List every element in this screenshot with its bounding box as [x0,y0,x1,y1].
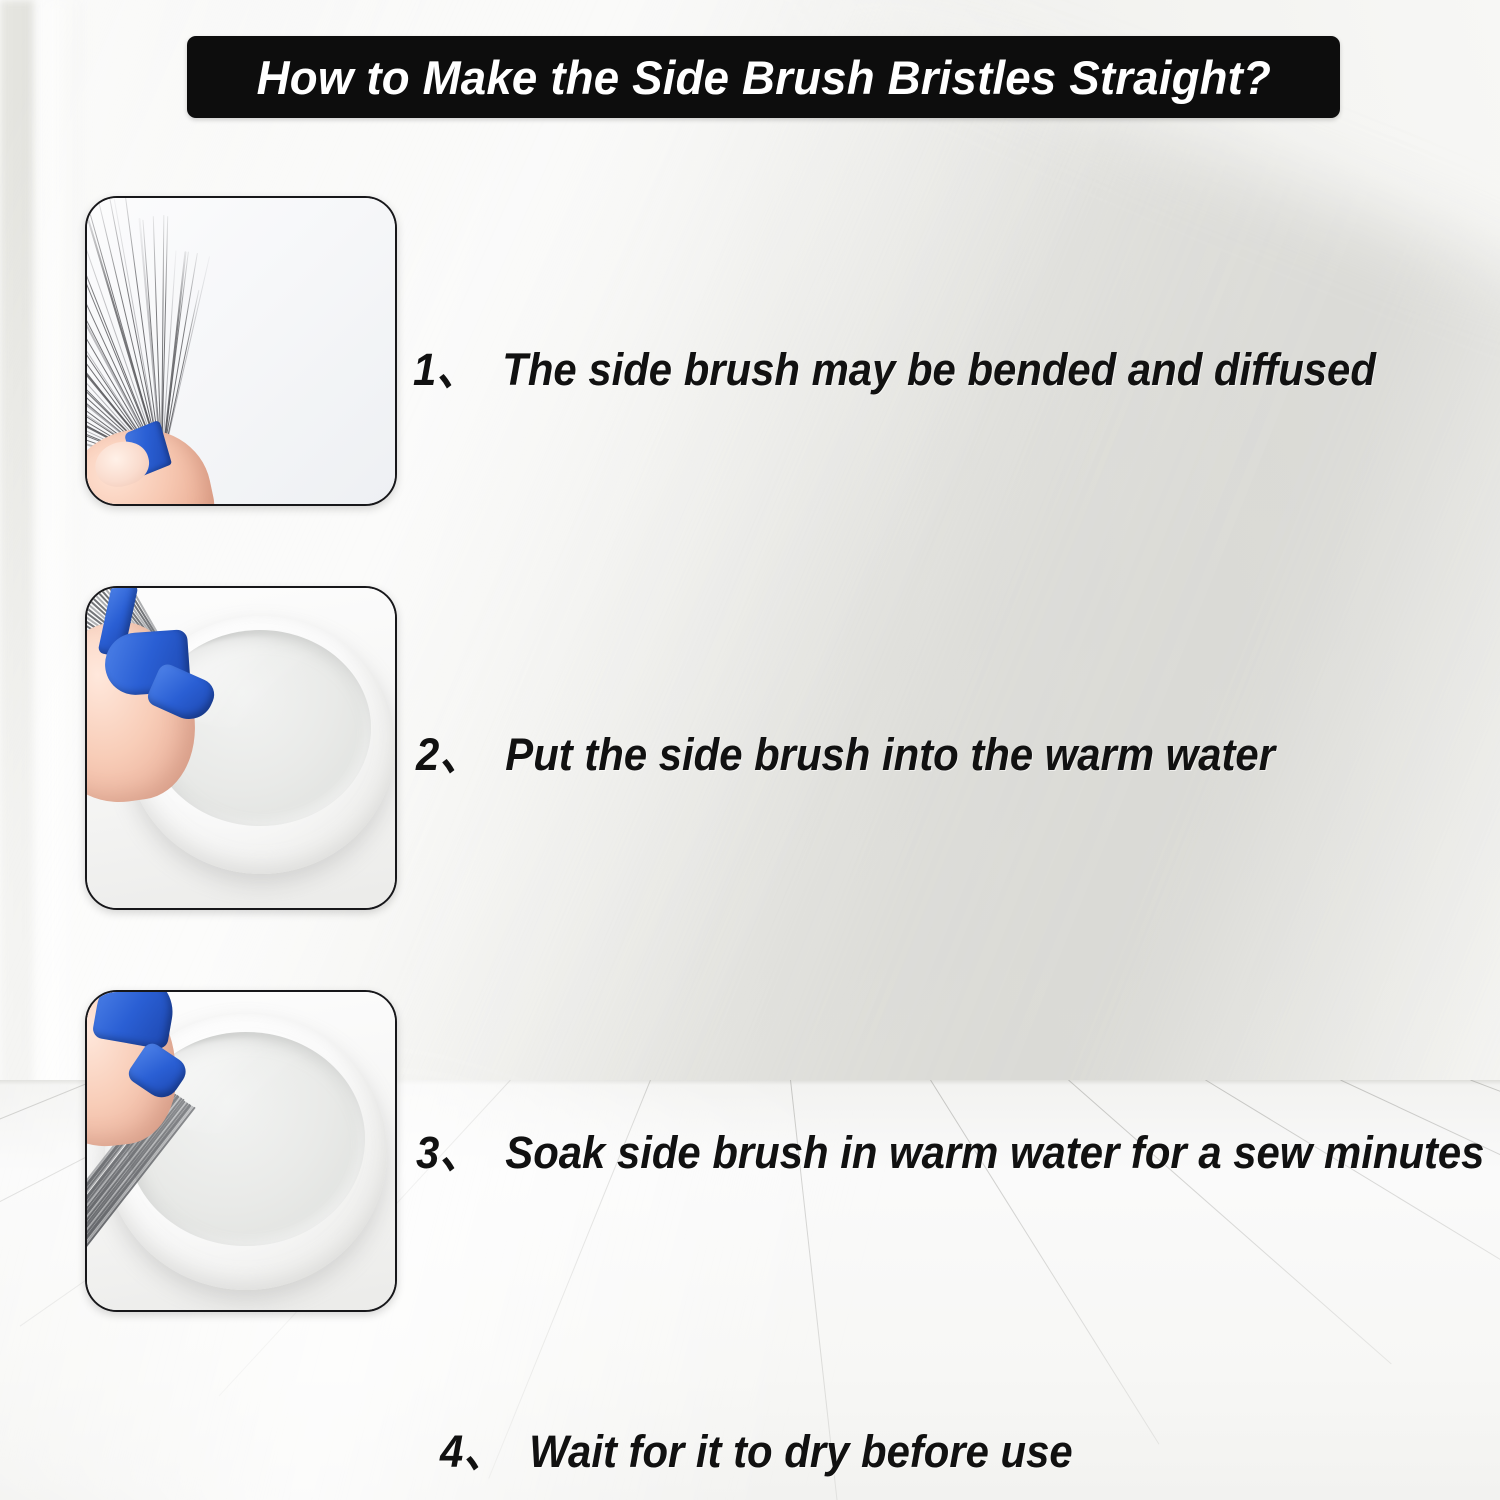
page-title-bar: How to Make the Side Brush Bristles Stra… [187,36,1340,118]
photo-brush-into-water [87,588,395,908]
step-1-text: 1、 The side brush may be bended and diff… [413,333,1376,398]
photo-brush-soaking [87,992,395,1310]
background-wall [0,0,1500,1090]
step-1-number: 1、 [413,333,478,398]
step-4-label: Wait for it to dry before use [529,1426,1072,1478]
step-3-text: 3、 Soak side brush in warm water for a s… [416,1116,1484,1181]
infographic-root: How to Make the Side Brush Bristles Stra… [0,0,1500,1500]
step-2-text: 2、 Put the side brush into the warm wate… [416,718,1275,783]
step-3-photo-card [85,990,397,1312]
step-4-text: 4、 Wait for it to dry before use [440,1415,1073,1480]
step-3-label: Soak side brush in warm water for a sew … [505,1127,1484,1179]
photo-splayed-brush [87,198,395,504]
step-3-number: 3、 [416,1116,481,1181]
floor-plank-line [1205,1080,1500,1304]
page-title: How to Make the Side Brush Bristles Stra… [256,50,1270,105]
step-1-photo-card [85,196,397,506]
step-2-photo-card [85,586,397,910]
step-2-label: Put the side brush into the warm water [505,729,1275,781]
step-2-number: 2、 [416,718,481,783]
step-4-number: 4、 [440,1415,505,1480]
step-1-label: The side brush may be bended and diffuse… [502,344,1376,396]
